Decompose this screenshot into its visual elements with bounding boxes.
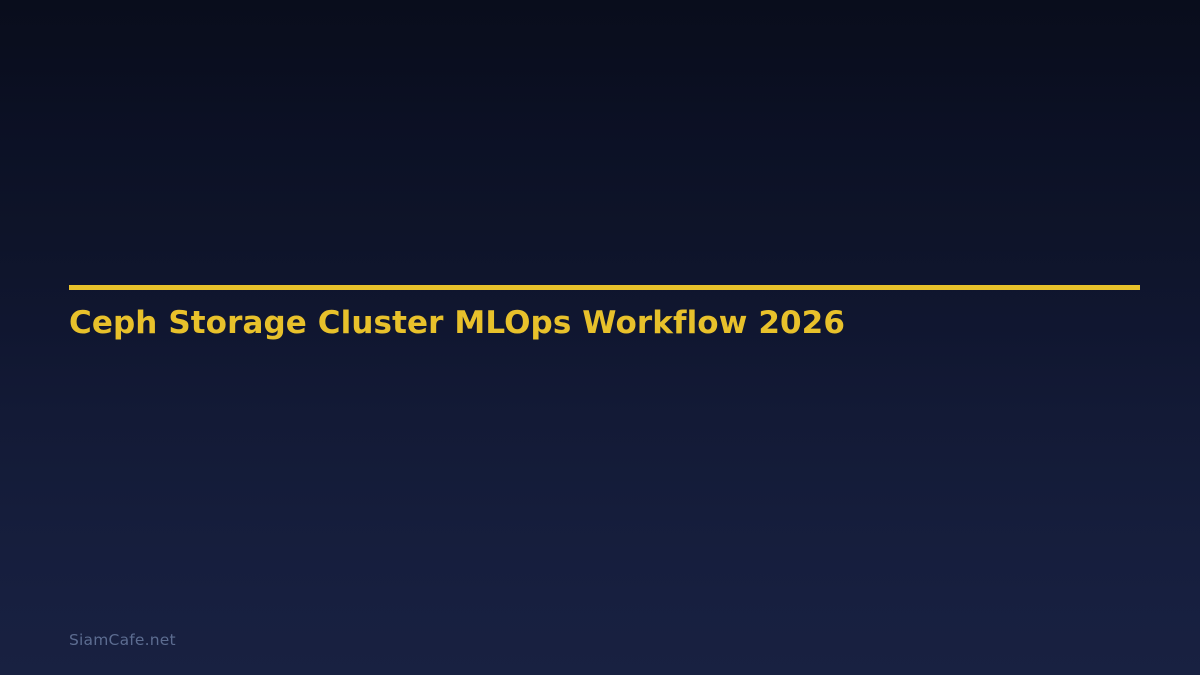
footer: SiamCafe.net <box>69 629 176 651</box>
title-block: Ceph Storage Cluster MLOps Workflow 2026 <box>69 303 1149 343</box>
footer-attribution-label: SiamCafe.net <box>69 629 176 651</box>
accent-rule-divider <box>69 285 1140 290</box>
title-slide: Ceph Storage Cluster MLOps Workflow 2026… <box>0 0 1200 675</box>
page-title: Ceph Storage Cluster MLOps Workflow 2026 <box>69 303 1149 343</box>
